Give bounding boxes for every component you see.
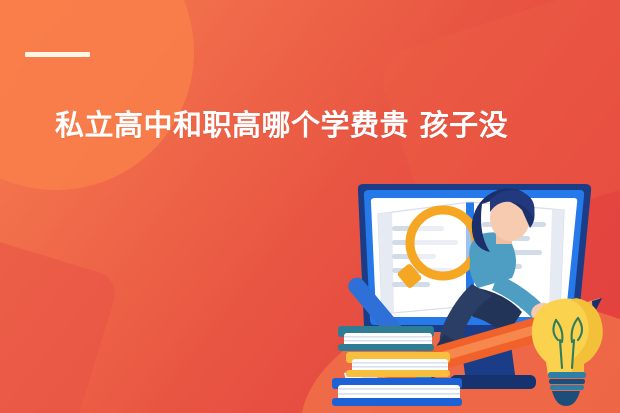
title-accent-rule: [25, 52, 90, 57]
lightbulb-icon: [532, 298, 603, 406]
article-cover-banner: 私立高中和职高哪个学费贵 孩子没: [0, 0, 620, 413]
page-title: 私立高中和职高哪个学费贵 孩子没: [55, 104, 615, 146]
study-research-illustration: [330, 170, 620, 413]
blue-book-pages: [338, 385, 460, 400]
